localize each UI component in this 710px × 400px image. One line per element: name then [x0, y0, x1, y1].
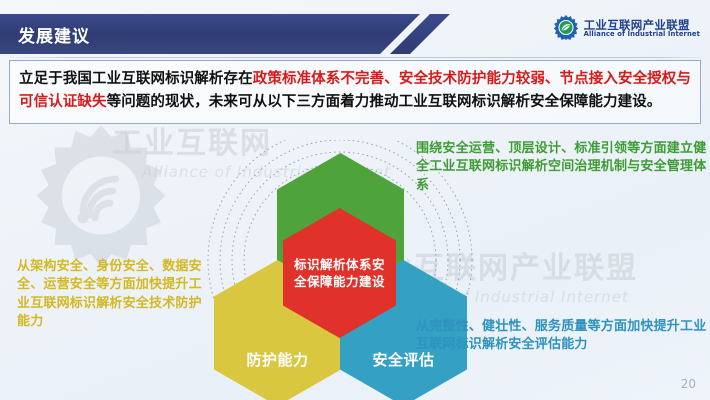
- summary-text-box: 立足于我国工业互联网标识解析存在政策标准体系不完善、安全技术防护能力较弱、节点接…: [9, 60, 701, 124]
- header-divider: [0, 57, 710, 58]
- page-title: 发展建议: [18, 22, 90, 47]
- hexagon-node-center-label: 标识解析体系安全保障能力建设: [283, 256, 396, 291]
- hexagon-node-protection-label: 防护能力: [246, 349, 308, 370]
- summary-paragraph: 立足于我国工业互联网标识解析存在政策标准体系不完善、安全技术防护能力较弱、节点接…: [19, 68, 691, 115]
- callout-protection: 从架构安全、身份安全、数据安全、运营安全等方面加快提升工业互联网标识解析安全技术…: [17, 258, 207, 332]
- page-number: 20: [681, 377, 696, 391]
- alliance-logo: 工业互联网产业联盟 Alliance of Industrial Interne…: [553, 14, 700, 44]
- paragraph-segment-2: 等问题的现状，未来可从以下三方面着力推动工业互联网标识解析安全保障能力建设。: [107, 94, 662, 110]
- callout-assessment: 从完整性、健壮性、服务质量等方面加快提升工业互联网标识解析安全评估能力: [416, 318, 708, 355]
- logo-en-label: Alliance of Industrial Internet: [584, 31, 700, 38]
- gear-leaf-logo-icon: [553, 14, 579, 44]
- logo-text-block: 工业互联网产业联盟 Alliance of Industrial Interne…: [584, 19, 700, 38]
- watermark-gear-icon-left: [26, 116, 176, 270]
- callout-management: 围绕安全运营、顶层设计、标准引领等方面建立健全工业互联网标识解析空间治理机制与安…: [416, 140, 708, 195]
- paragraph-segment-0: 立足于我国工业互联网标识解析存在: [19, 71, 253, 87]
